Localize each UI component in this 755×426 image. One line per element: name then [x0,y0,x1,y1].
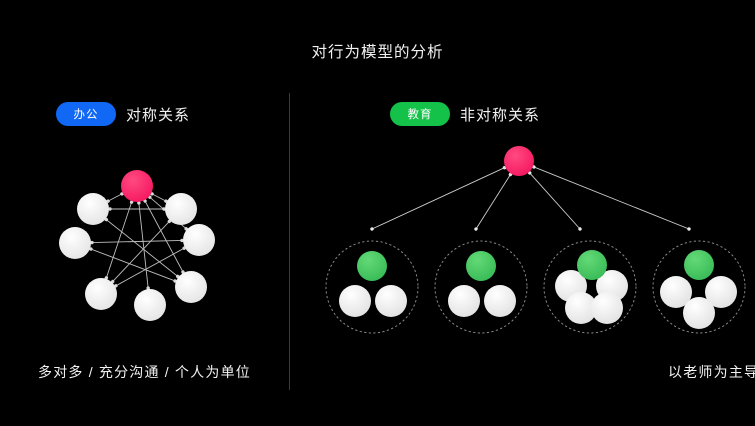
family-lead-node [357,251,387,281]
tree-edge-group [372,167,689,229]
slide-canvas: 对行为模型的分析 办公 对称关系 [0,0,755,426]
family-member-node [339,285,371,317]
tree-node-group [339,146,737,329]
family-member-node [375,285,407,317]
peer-node [175,271,207,303]
tree-edge [372,168,504,229]
mesh-node-group [59,170,215,321]
tree-edge [476,175,510,229]
peer-node [59,227,91,259]
tree-edge [534,167,689,229]
right-panel-caption: 以老师为主导 / 以孩子中心 / 以家庭为单位 [580,362,755,382]
family-member-node [683,297,715,329]
family-member-node [484,285,516,317]
mesh-edge [108,194,122,201]
family-member-node [591,292,623,324]
mesh-edge [106,202,131,278]
right-panel: 教育 非对称关系 [290,0,755,426]
family-member-node [448,285,480,317]
peer-node [134,289,166,321]
family-lead-node [466,251,496,281]
mesh-edge [92,240,182,242]
peer-node [165,193,197,225]
left-panel-caption: 多对多 / 充分沟通 / 个人为单位 [0,362,289,382]
family-lead-node [577,250,607,280]
root-node [504,146,534,176]
peer-node [77,193,109,225]
peer-node [85,278,117,310]
left-panel: 办公 对称关系 多对多 / 充分沟通 / 个人为单位 [0,0,289,426]
family-lead-node [684,250,714,280]
hub-node [121,170,153,202]
mesh-edge [152,194,166,201]
peer-node [183,224,215,256]
mesh-edge [113,221,170,281]
tree-edge [530,173,580,229]
